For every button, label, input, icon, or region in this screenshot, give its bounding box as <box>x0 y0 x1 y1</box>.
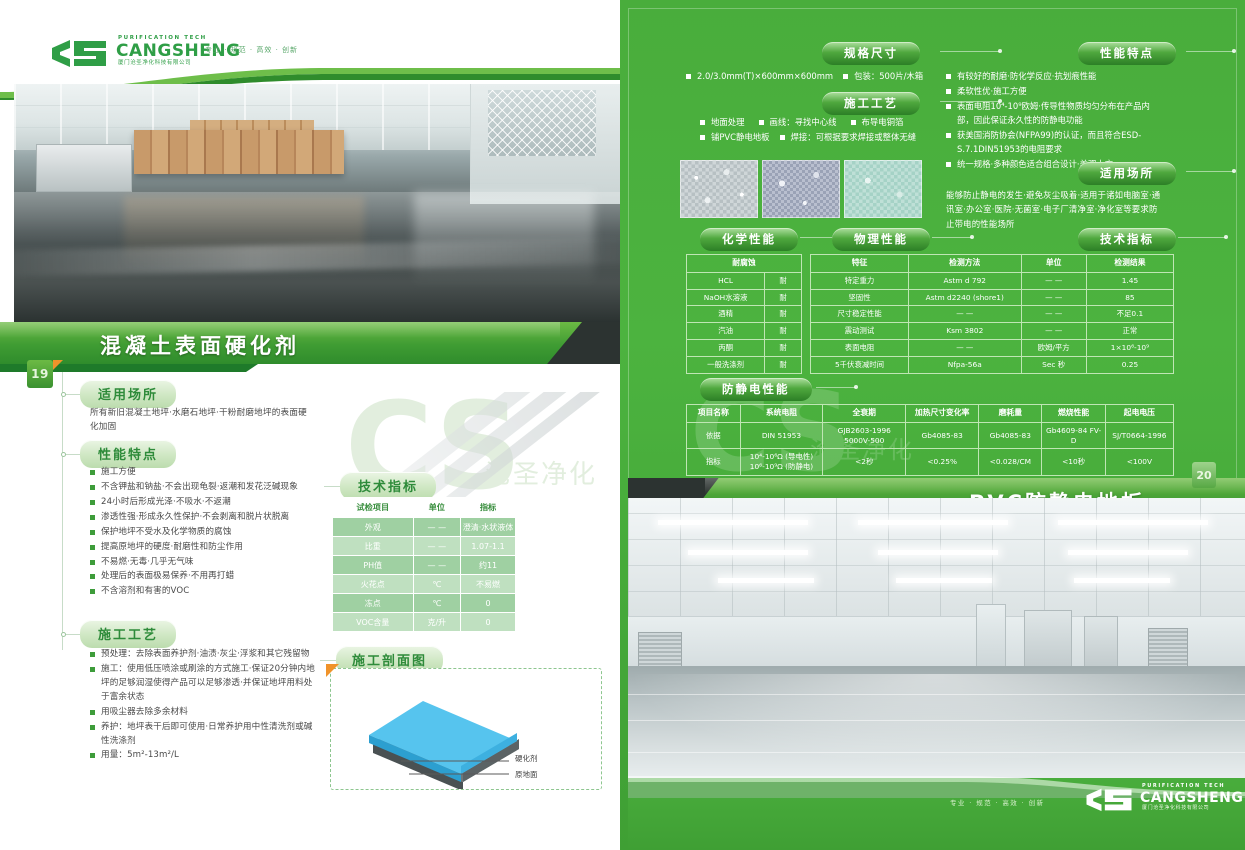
section-heading-chemical: 化学性能 <box>700 228 798 251</box>
table-row: 外观 — — 澄清·水状液体 <box>333 518 516 537</box>
left-timeline-rule <box>62 372 63 650</box>
table-row: HCL耐 <box>687 272 802 289</box>
list-item: 不含溶剂和有害的VOC <box>90 585 316 599</box>
table-row: 特定重力Astm d 792— —1.45 <box>811 272 1174 289</box>
brand-tagline: 专业 · 规范 · 高效 · 创新 <box>205 45 298 55</box>
logo-supertext: PURIFICATION TECH <box>1142 784 1243 789</box>
construction-process-list: 预处理：去除表面养护剂·油渍·灰尘·浮浆和其它残留物 施工：使用低压喷涂或刷涂的… <box>90 648 316 764</box>
square-bullet-icon <box>759 120 764 125</box>
square-bullet-icon <box>851 120 856 125</box>
table-header-row: 耐腐蚀 <box>687 255 802 273</box>
square-bullet-icon <box>90 560 95 565</box>
section-heading-antistatic: 防静电性能 <box>700 378 812 401</box>
table-row: 表面电阻— —欧姆/平方1×10⁶-10⁹ <box>811 340 1174 357</box>
footer-tagline: 专业 · 规范 · 高效 · 创新 <box>950 797 1044 807</box>
col-header-item: 试检项目 <box>333 497 414 518</box>
list-item: 画线：寻找中心线 <box>759 116 837 130</box>
left-title-banner: 混凝土表面硬化剂 <box>0 322 620 364</box>
section-heading-construction-process: 施工工艺 <box>80 620 176 648</box>
list-item: 处理后的表面极易保养·不用再打蜡 <box>90 570 316 584</box>
section-applications-right: 适用场所 <box>1078 162 1176 185</box>
list-item: 24小时后形成光泽·不吸水·不返潮 <box>90 496 316 510</box>
section-heading-performance-features: 性能特点 <box>80 440 176 468</box>
list-item: 预处理：去除表面养护剂·油渍·灰尘·浮浆和其它残留物 <box>90 648 316 662</box>
spec-size-items: 2.0/3.0mm(T)×600mm×600mm 包装：500片/木箱 <box>686 70 936 85</box>
section-heading-features-right: 性能特点 <box>1078 42 1176 65</box>
list-item: 表面电阻10⁴-10⁹欧姆·传导性物质均匀分布在产品内部，因此保证永久性的防静电… <box>946 100 1162 127</box>
section-performance-features: 性能特点 <box>80 440 176 468</box>
list-item: 地面处理 <box>700 116 745 130</box>
antistatic-table: 项目名称 系统电阻 全衰期 加热尺寸变化率 磨耗量 燃烧性能 起电电压 依据 D… <box>686 404 1174 476</box>
title-underbar <box>0 364 620 372</box>
orange-corner-accent <box>326 664 339 677</box>
square-bullet-icon <box>946 133 951 138</box>
list-item: 铺PVC静电地板 <box>700 131 770 145</box>
chemical-table: 耐腐蚀 HCL耐 NaOH水溶液耐 酒精耐 汽油耐 丙酮耐 一般洗涤剂耐 <box>686 254 802 374</box>
square-bullet-icon <box>946 104 951 109</box>
section-antistatic: 防静电性能 <box>700 378 812 401</box>
logo-subtext: 厦门沧圣净化科技有限公司 <box>1142 806 1243 811</box>
features-list-right: 有较好的耐磨·防化学反应·抗划痕性能 柔软性优·施工方便 表面电阻10⁴-10⁹… <box>946 70 1162 173</box>
swatch-green <box>844 160 922 218</box>
right-page-number-label: 20 <box>1196 469 1211 482</box>
table-row: 震动测试Ksm 3802— —正常 <box>811 323 1174 340</box>
left-page-title: 混凝土表面硬化剂 <box>100 330 300 360</box>
section-heading-physical: 物理性能 <box>832 228 930 251</box>
table-row: 5千伏衰减时间Nfpa-56aSec 秒0.25 <box>811 357 1174 374</box>
table-row: 冻点 ℃ 0 <box>333 594 516 613</box>
table-header-row: 项目名称 系统电阻 全衰期 加热尺寸变化率 磨耗量 燃烧性能 起电电压 <box>687 405 1174 423</box>
table-row: 比重 — — 1.07-1.1 <box>333 537 516 556</box>
table-row: 火花点 ℃ 不易燃 <box>333 575 516 594</box>
cross-section-diagram-box: 硬化剂 原地面 <box>330 668 602 790</box>
section-heading-tech-index-right: 技术指标 <box>1078 228 1176 251</box>
square-bullet-icon <box>843 74 848 79</box>
list-item: 不含钾盐和钠盐·不会出现龟裂·返潮和发花泛碱现象 <box>90 481 316 495</box>
swatch-blue-grey <box>762 160 840 218</box>
table-row: NaOH水溶液耐 <box>687 289 802 306</box>
left-page-photo <box>14 84 620 322</box>
table-row: PH值 — — 约11 <box>333 556 516 575</box>
square-bullet-icon <box>90 545 95 550</box>
table-row: 丙酮耐 <box>687 340 802 357</box>
section-features-right: 性能特点 <box>1078 42 1176 65</box>
square-bullet-icon <box>90 652 95 657</box>
table-header-row: 试检项目 单位 指标 <box>333 497 516 518</box>
square-bullet-icon <box>90 530 95 535</box>
list-item: 用量：5m²-13m²/L <box>90 749 316 763</box>
square-bullet-icon <box>946 162 951 167</box>
section-heading-tech-indicators: 技术指标 <box>340 472 436 500</box>
section-tech-index-right: 技术指标 <box>1078 228 1176 251</box>
list-item: 有较好的耐磨·防化学反应·抗划痕性能 <box>946 70 1162 84</box>
col-header-unit: 单位 <box>413 497 461 518</box>
list-item: 获美国消防协会(NFPA99)的认证，而且符合ESD-S.7.1DIN51953… <box>946 129 1162 156</box>
brochure-spread: PURIFICATION TECH CANGSHENG 厦门沧圣净化科技有限公司… <box>0 0 1245 850</box>
logo-name: CANGSHENG <box>1140 791 1243 805</box>
table-header-row: 特征 检测方法 单位 检测结果 <box>811 255 1174 273</box>
square-bullet-icon <box>90 500 95 505</box>
tech-indicators-table: 试检项目 单位 指标 外观 — — 澄清·水状液体 比重 — — 1.07-1.… <box>332 497 516 632</box>
table-row: 坚固性Astm d2240 (shore1)— —85 <box>811 289 1174 306</box>
list-item: 2.0/3.0mm(T)×600mm×600mm <box>686 70 833 84</box>
list-item: 渗透性强·形成永久性保护·不会剥离和脱片状脱离 <box>90 511 316 525</box>
square-bullet-icon <box>780 135 785 140</box>
table-row: 一般洗涤剂耐 <box>687 357 802 374</box>
square-bullet-icon <box>90 667 95 672</box>
section-tech-indicators: 技术指标 <box>340 472 436 500</box>
square-bullet-icon <box>946 74 951 79</box>
list-item: 柔软性优·施工方便 <box>946 85 1162 99</box>
section-heading-applications-right: 适用场所 <box>1078 162 1176 185</box>
section-applicable-places: 适用场所 <box>80 380 176 408</box>
cross-section-label-substrate: 原地面 <box>515 769 538 780</box>
square-bullet-icon <box>90 589 95 594</box>
col-header-index: 指标 <box>461 497 516 518</box>
process-items-right: 地面处理 画线：寻找中心线 布导电铜箔 铺PVC静电地板 焊接：可根据要求焊接或… <box>700 116 950 146</box>
list-item: 保护地坪不受水及化学物质的腐蚀 <box>90 526 316 540</box>
square-bullet-icon <box>90 485 95 490</box>
square-bullet-icon <box>90 710 95 715</box>
right-page-photo <box>628 498 1245 780</box>
section-chemical: 化学性能 <box>700 228 798 251</box>
section-spec-size: 规格尺寸 <box>822 42 920 65</box>
square-bullet-icon <box>90 470 95 475</box>
table-row: 酒精耐 <box>687 306 802 323</box>
list-item: 布导电铜箔 <box>851 116 904 130</box>
square-bullet-icon <box>686 74 691 79</box>
section-physical: 物理性能 <box>832 228 930 251</box>
list-item: 不易燃·无毒·几乎无气味 <box>90 556 316 570</box>
performance-features-list: 施工方便 不含钾盐和钠盐·不会出现龟裂·返潮和发花泛碱现象 24小时后形成光泽·… <box>90 466 316 600</box>
list-item: 养护：地坪表干后即可使用·日常养护用中性清洗剂或碱性洗涤剂 <box>90 721 316 749</box>
square-bullet-icon <box>90 574 95 579</box>
cross-section-illustration <box>331 669 601 789</box>
section-heading-applicable-places: 适用场所 <box>80 380 176 408</box>
square-bullet-icon <box>90 725 95 730</box>
list-item: 包装：500片/木箱 <box>843 70 923 84</box>
table-row: 依据 DIN 51953 GJB2603-1996 5000V-500 Gb40… <box>687 422 1174 449</box>
square-bullet-icon <box>90 515 95 520</box>
square-bullet-icon <box>90 753 95 758</box>
list-item: 用吸尘器去除多余材料 <box>90 706 316 720</box>
list-item: 焊接：可根据要求焊接或整体无缝 <box>780 131 917 145</box>
square-bullet-icon <box>946 89 951 94</box>
section-construction-process: 施工工艺 <box>80 620 176 648</box>
right-page-number: 20 <box>1192 462 1216 488</box>
table-row: 汽油耐 <box>687 323 802 340</box>
square-bullet-icon <box>700 120 705 125</box>
cross-section-label-hardener: 硬化剂 <box>515 753 538 764</box>
list-item: 施工：使用低压喷涂或刷涂的方式施工·保证20分钟内地坪的足够润湿使得产品可以足够… <box>90 663 316 705</box>
square-bullet-icon <box>700 135 705 140</box>
section-process-right: 施工工艺 <box>822 92 920 115</box>
list-item: 提高原地坪的硬度·耐磨性和防尘作用 <box>90 541 316 555</box>
footer-logo: PURIFICATION TECH CANGSHENG 厦门沧圣净化科技有限公司 <box>1083 784 1243 812</box>
table-row: 尺寸稳定性能— —— —不足0.1 <box>811 306 1174 323</box>
applicable-places-text: 所有新旧混凝土地坪·水磨石地坪·干粉耐磨地坪的表面硬化加固 <box>90 406 315 434</box>
list-item: 施工方便 <box>90 466 316 480</box>
applications-text-right: 能够防止静电的发生·避免灰尘吸着·适用于诸如电脑室·通讯室·办公室·医院·无菌室… <box>946 188 1164 231</box>
left-page: PURIFICATION TECH CANGSHENG 厦门沧圣净化科技有限公司… <box>0 0 620 850</box>
table-row: VOC含量 克/升 0 <box>333 613 516 632</box>
section-heading-spec-size: 规格尺寸 <box>822 42 920 65</box>
section-heading-process-right: 施工工艺 <box>822 92 920 115</box>
left-page-number-label: 19 <box>31 367 49 381</box>
cs-logo-icon <box>1083 787 1135 812</box>
left-page-number: 19 <box>27 360 53 388</box>
physical-table: 特征 检测方法 单位 检测结果 特定重力Astm d 792— —1.45 坚固… <box>810 254 1174 374</box>
swatch-grey-white <box>680 160 758 218</box>
table-row: 指标 10⁴-10⁶Ω (导电性) 10⁶-10⁹Ω (防静电) <2秒 <0.… <box>687 449 1174 476</box>
